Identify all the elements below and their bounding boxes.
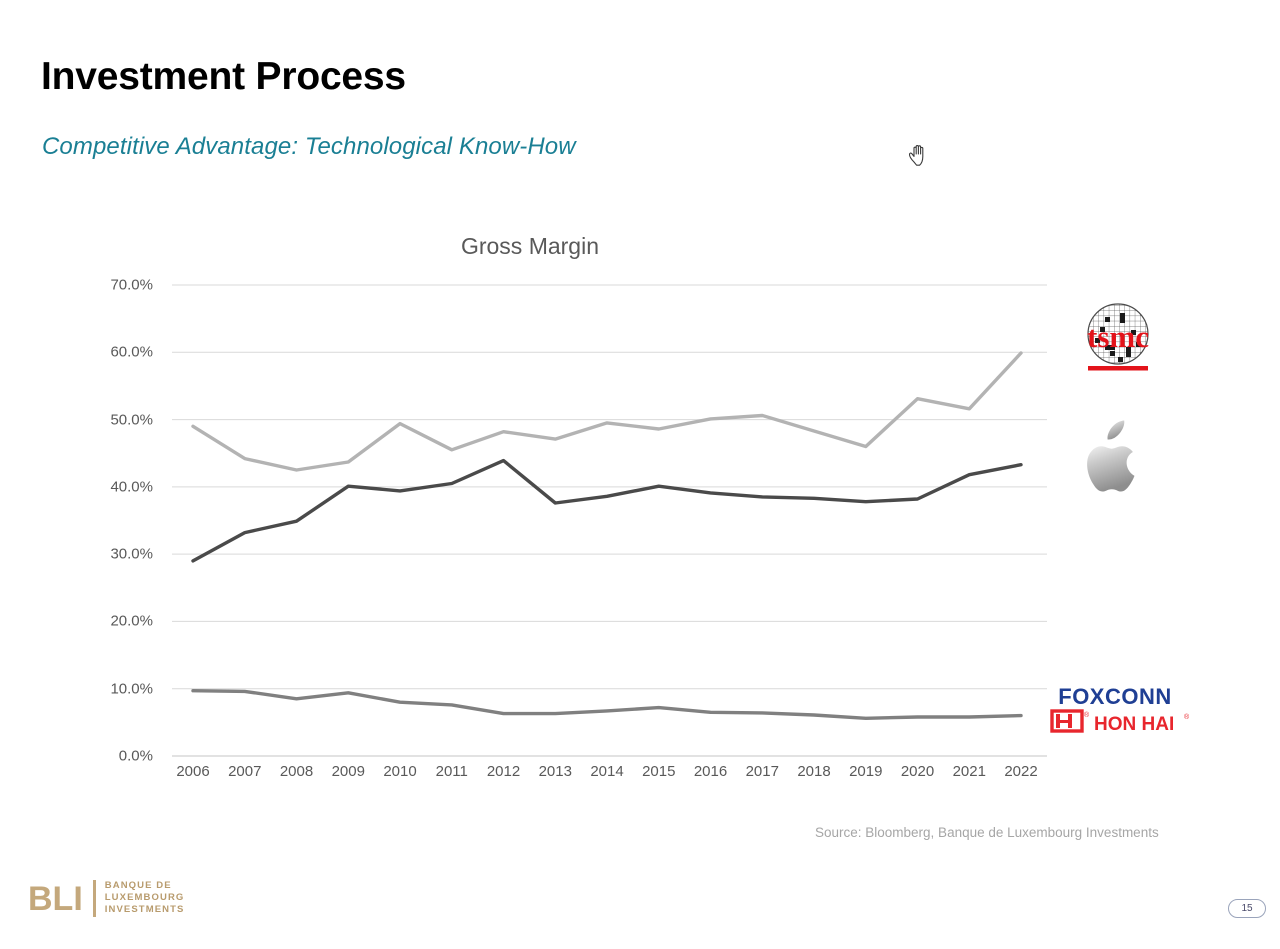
apple-logo	[1082, 420, 1148, 498]
x-tick-label: 2015	[642, 763, 675, 780]
tsmc-logo: tsmc	[1062, 300, 1174, 382]
hon-hai-mark: ®	[1052, 711, 1090, 731]
bli-wordmark: BLI	[28, 880, 83, 918]
page-subtitle: Competitive Advantage: Technological Kno…	[42, 133, 576, 161]
x-tick-label: 2021	[953, 763, 986, 780]
grab-hand-cursor-icon	[905, 142, 935, 170]
series-line-tsmc	[193, 353, 1021, 470]
foxconn-logo: FOXCONN ® HON HAI ®	[1038, 684, 1193, 734]
x-tick-label: 2017	[746, 763, 779, 780]
source-note: Source: Bloomberg, Banque de Luxembourg …	[815, 825, 1159, 840]
x-tick-label: 2006	[176, 763, 209, 780]
foxconn-wordmark: FOXCONN	[1058, 684, 1172, 709]
hon-hai-wordmark: HON HAI	[1094, 714, 1174, 734]
bli-logo: BLI BANQUE DE LUXEMBOURG INVESTMENTS	[28, 880, 188, 928]
x-tick-label: 2010	[383, 763, 416, 780]
x-tick-label: 2018	[797, 763, 830, 780]
x-tick-label: 2013	[539, 763, 572, 780]
x-tick-label: 2012	[487, 763, 520, 780]
gross-margin-chart: Gross Margin 70.0%60.0%50.0%40.0%30.0%20…	[0, 215, 1100, 815]
svg-text:®: ®	[1184, 713, 1190, 721]
bli-tagline: BANQUE DE LUXEMBOURG INVESTMENTS	[93, 880, 185, 917]
chart-plot-area	[0, 215, 1100, 815]
x-tick-label: 2008	[280, 763, 313, 780]
x-tick-label: 2020	[901, 763, 934, 780]
svg-text:®: ®	[1084, 711, 1090, 719]
x-tick-label: 2014	[590, 763, 623, 780]
x-tick-label: 2019	[849, 763, 882, 780]
series-line-foxconn-hon-hai	[193, 691, 1021, 719]
bli-tagline-line2: LUXEMBOURG	[105, 892, 185, 904]
x-tick-label: 2022	[1004, 763, 1037, 780]
x-tick-label: 2016	[694, 763, 727, 780]
x-tick-label: 2007	[228, 763, 261, 780]
page-title: Investment Process	[41, 55, 406, 99]
slide-root: Investment Process Competitive Advantage…	[0, 0, 1280, 949]
page-number-badge[interactable]: 15	[1228, 899, 1266, 918]
series-line-apple	[193, 461, 1021, 561]
x-tick-label: 2009	[332, 763, 365, 780]
x-tick-label: 2011	[436, 763, 468, 780]
bli-tagline-line3: INVESTMENTS	[105, 904, 185, 916]
tsmc-wordmark: tsmc	[1087, 319, 1149, 354]
bli-tagline-line1: BANQUE DE	[105, 880, 185, 892]
